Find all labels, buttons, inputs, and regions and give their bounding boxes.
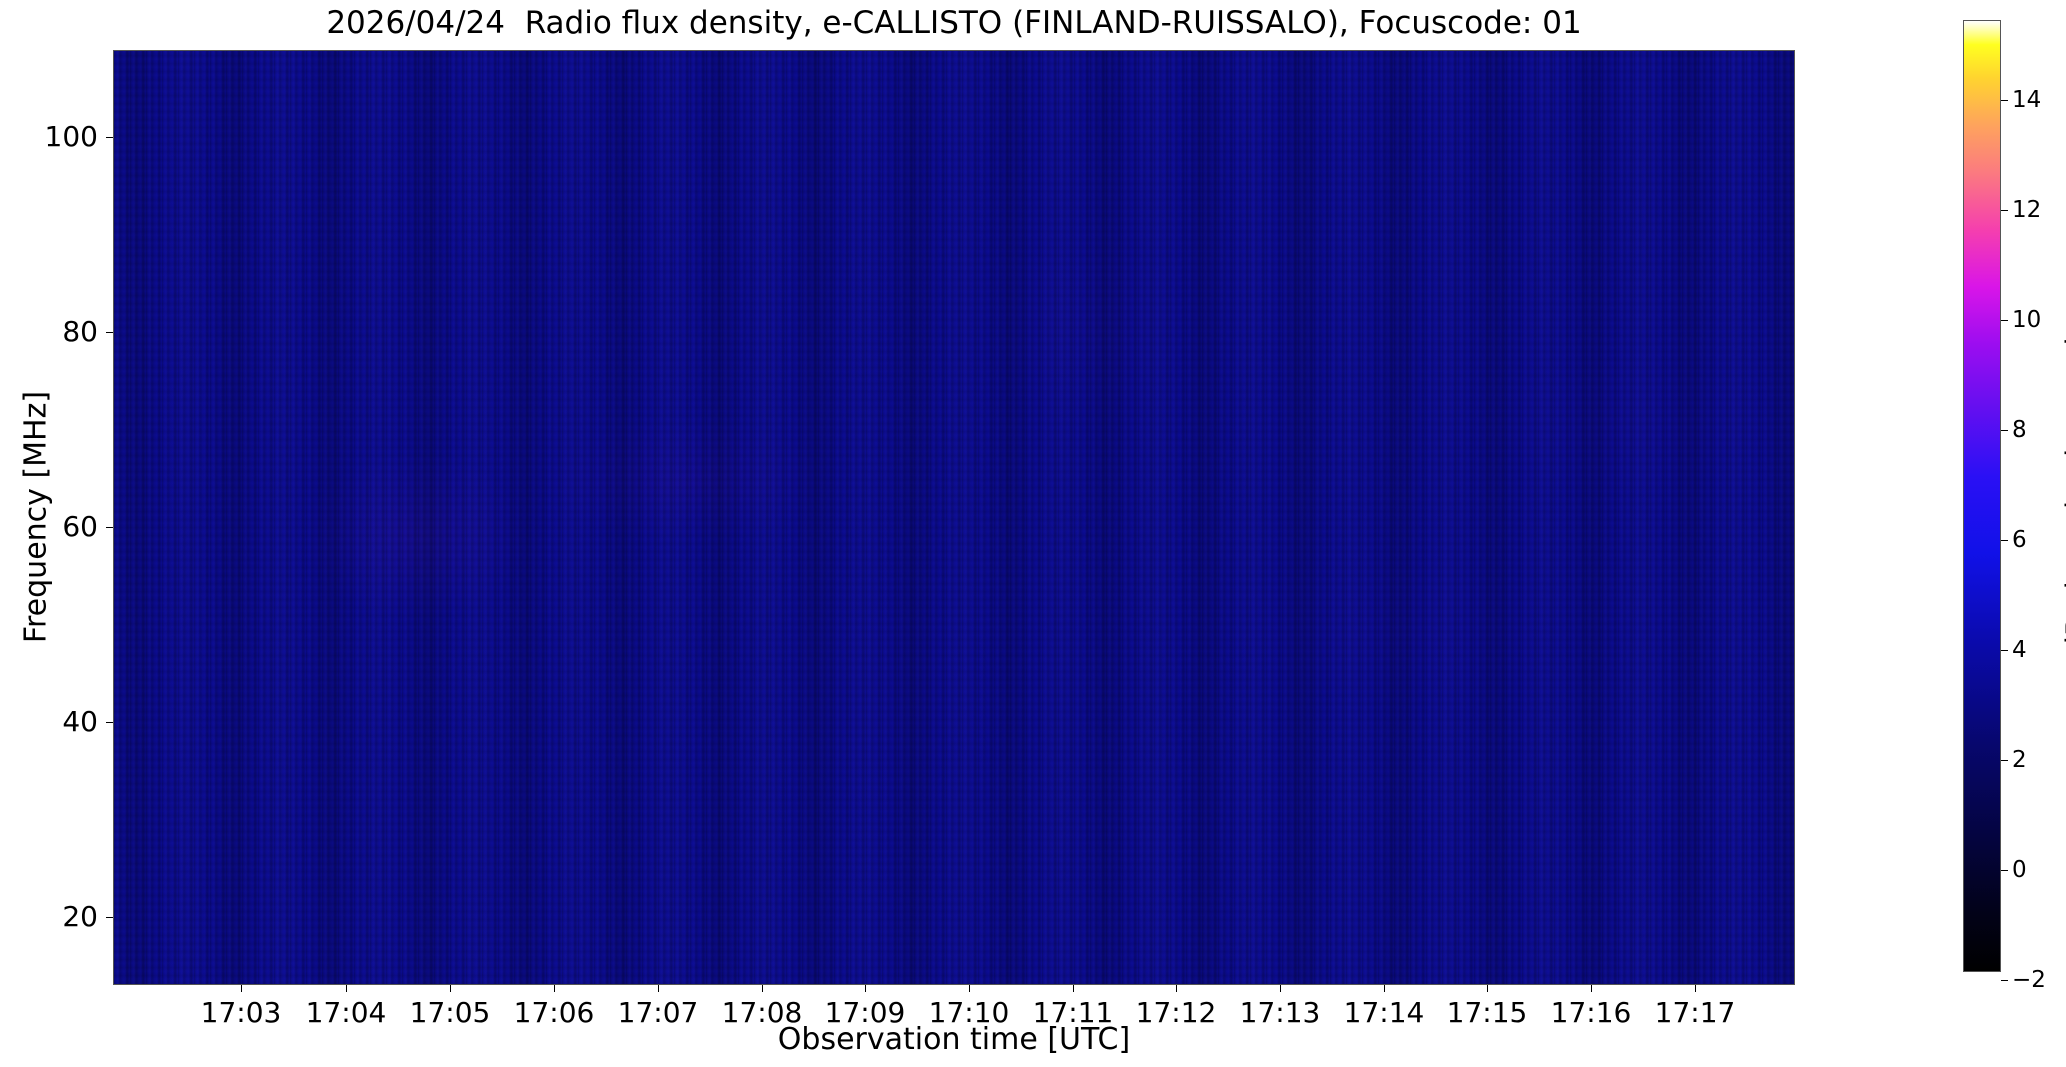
x-tick-mark bbox=[865, 985, 866, 992]
colorbar-tick-label: −2 bbox=[2012, 966, 2046, 994]
x-tick-mark bbox=[1591, 985, 1592, 992]
colorbar-tick-mark bbox=[2001, 980, 2008, 981]
colorbar-tick-label: 4 bbox=[2012, 636, 2027, 664]
x-tick-mark bbox=[969, 985, 970, 992]
colorbar-tick-mark bbox=[2001, 870, 2008, 871]
x-axis-label: Observation time [UTC] bbox=[113, 1022, 1795, 1058]
x-tick-mark bbox=[762, 985, 763, 992]
colorbar-tick-mark bbox=[2001, 760, 2008, 761]
colorbar-tick-mark bbox=[2001, 540, 2008, 541]
colorbar-tick-label: 14 bbox=[2012, 86, 2041, 114]
y-tick-mark bbox=[106, 722, 113, 723]
y-tick-mark bbox=[106, 137, 113, 138]
channel-texture-layer bbox=[114, 51, 1794, 984]
colorbar-gradient bbox=[1964, 21, 2000, 971]
x-tick-mark bbox=[241, 985, 242, 992]
spectrogram-plot-area[interactable] bbox=[113, 50, 1795, 985]
colorbar-tick-mark bbox=[2001, 650, 2008, 651]
colorbar-tick-label: 6 bbox=[2012, 526, 2027, 554]
x-tick-mark bbox=[1384, 985, 1385, 992]
y-axis-label: Frequency [MHz] bbox=[17, 50, 57, 985]
x-tick-mark bbox=[1073, 985, 1074, 992]
colorbar-tick-label: 10 bbox=[2012, 306, 2041, 334]
y-tick-mark bbox=[106, 332, 113, 333]
x-tick-mark bbox=[1487, 985, 1488, 992]
x-tick-mark bbox=[346, 985, 347, 992]
x-tick-mark bbox=[1176, 985, 1177, 992]
colorbar-tick-mark bbox=[2001, 100, 2008, 101]
colorbar-tick-mark bbox=[2001, 320, 2008, 321]
y-tick-mark bbox=[106, 527, 113, 528]
spectrogram-image bbox=[114, 51, 1794, 984]
colorbar-tick-label: 12 bbox=[2012, 196, 2041, 224]
page-title: 2026/04/24 Radio flux density, e-CALLIST… bbox=[113, 4, 1795, 42]
colorbar-tick-mark bbox=[2001, 430, 2008, 431]
colorbar-tick-label: 2 bbox=[2012, 746, 2027, 774]
x-tick-mark bbox=[658, 985, 659, 992]
colorbar-tick-mark bbox=[2001, 210, 2008, 211]
figure-canvas: 2026/04/24 Radio flux density, e-CALLIST… bbox=[0, 0, 2066, 1067]
x-tick-mark bbox=[1695, 985, 1696, 992]
x-tick-mark bbox=[554, 985, 555, 992]
colorbar-tick-label: 0 bbox=[2012, 856, 2027, 884]
colorbar-label: dB above background bbox=[2059, 146, 2066, 846]
x-tick-mark bbox=[450, 985, 451, 992]
y-tick-mark bbox=[106, 917, 113, 918]
x-tick-mark bbox=[1280, 985, 1281, 992]
colorbar-tick-label: 8 bbox=[2012, 416, 2027, 444]
colorbar[interactable] bbox=[1963, 20, 2001, 972]
